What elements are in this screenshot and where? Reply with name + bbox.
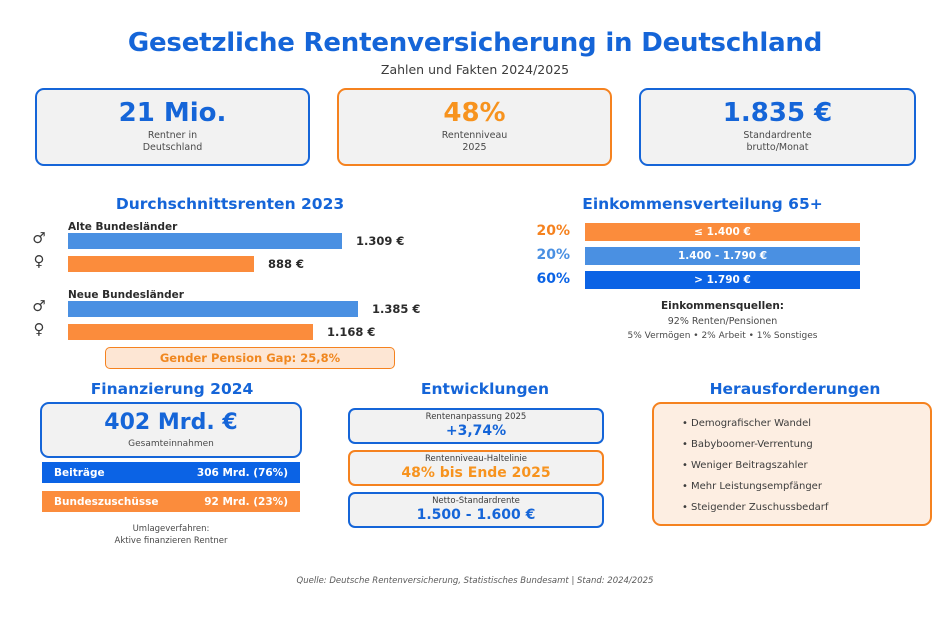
bullet-icon: •	[682, 502, 691, 513]
financing-total-value: 402 Mrd. €	[104, 411, 237, 435]
kpi-value: 48%	[443, 100, 505, 127]
challenge-text: Babyboomer-Verrentung	[691, 439, 813, 450]
financing-bar-name: Bundeszuschüsse	[54, 496, 158, 508]
bar-value-neue-frauen: 1.168 €	[327, 325, 375, 339]
development-label: Rentenniveau-Haltelinie	[425, 454, 527, 464]
kpi-card-rentner: 21 Mio. Rentner in Deutschland	[35, 88, 310, 166]
list-item: •Mehr Leistungsempfänger	[682, 481, 930, 492]
distribution-bar-1: 1.400 - 1.790 €	[585, 247, 860, 265]
bullet-icon: •	[682, 481, 691, 492]
challenge-text: Steigender Zuschussbedarf	[691, 502, 828, 513]
distribution-pct-1: 20%	[508, 247, 570, 263]
bar-value-neue-maenner: 1.385 €	[372, 302, 420, 316]
bar-value-alte-frauen: 888 €	[268, 257, 304, 271]
development-label: Rentenanpassung 2025	[426, 412, 527, 422]
page-title: Gesetzliche Rentenversicherung in Deutsc…	[0, 28, 950, 58]
male-icon: ♂	[30, 297, 48, 315]
bar-group-label-neue: Neue Bundesländer	[68, 289, 184, 301]
male-icon: ♂	[30, 229, 48, 247]
kpi-card-standardrente: 1.835 € Standardrente brutto/Monat	[639, 88, 916, 166]
development-value: 1.500 - 1.600 €	[417, 507, 536, 525]
bar-alte-maenner	[68, 233, 342, 249]
section-heading-herausforderungen: Herausforderungen	[645, 380, 945, 398]
section-heading-einkommensverteilung: Einkommensverteilung 65+	[490, 195, 915, 213]
source-footer: Quelle: Deutsche Rentenversicherung, Sta…	[0, 576, 950, 586]
list-item: •Demografischer Wandel	[682, 418, 930, 429]
income-sources-primary: 92% Renten/Pensionen	[585, 316, 860, 327]
development-card-haltelinie: Rentenniveau-Haltelinie 48% bis Ende 202…	[348, 450, 604, 486]
bullet-icon: •	[682, 439, 691, 450]
kpi-card-rentenniveau: 48% Rentenniveau 2025	[337, 88, 612, 166]
development-label: Netto-Standardrente	[432, 496, 520, 506]
development-card-nettostandardrente: Netto-Standardrente 1.500 - 1.600 €	[348, 492, 604, 528]
challenge-text: Demografischer Wandel	[691, 418, 811, 429]
financing-bar-amount: 92 Mrd. (23%)	[204, 496, 288, 508]
financing-bar-beitraege: Beiträge 306 Mrd. (76%)	[42, 462, 300, 483]
financing-bar-bundeszuschuesse: Bundeszuschüsse 92 Mrd. (23%)	[42, 491, 300, 512]
financing-bar-amount: 306 Mrd. (76%)	[197, 467, 288, 479]
gender-pension-gap-badge: Gender Pension Gap: 25,8%	[105, 347, 395, 369]
income-sources-secondary: 5% Vermögen • 2% Arbeit • 1% Sonstiges	[545, 331, 900, 341]
female-icon: ♀	[30, 252, 48, 270]
kpi-value: 1.835 €	[723, 100, 832, 127]
distribution-pct-2: 60%	[508, 271, 570, 287]
page-subtitle: Zahlen und Fakten 2024/2025	[0, 62, 950, 77]
infographic-canvas: Gesetzliche Rentenversicherung in Deutsc…	[0, 0, 950, 628]
bar-neue-maenner	[68, 301, 358, 317]
list-item: •Weniger Beitragszahler	[682, 460, 930, 471]
bar-value-alte-maenner: 1.309 €	[356, 234, 404, 248]
financing-total-card: 402 Mrd. € Gesamteinnahmen	[40, 402, 302, 458]
female-icon: ♀	[30, 320, 48, 338]
challenge-text: Weniger Beitragszahler	[691, 460, 808, 471]
distribution-bar-2: > 1.790 €	[585, 271, 860, 289]
list-item: •Steigender Zuschussbedarf	[682, 502, 930, 513]
development-card-rentenanpassung: Rentenanpassung 2025 +3,74%	[348, 408, 604, 444]
financing-total-label: Gesamteinnahmen	[128, 439, 214, 449]
kpi-value: 21 Mio.	[119, 100, 227, 127]
kpi-label: Standardrente brutto/Monat	[743, 130, 811, 155]
development-value: 48% bis Ende 2025	[401, 465, 550, 483]
distribution-bar-0: ≤ 1.400 €	[585, 223, 860, 241]
challenges-box: •Demografischer Wandel •Babyboomer-Verre…	[652, 402, 932, 526]
list-item: •Babyboomer-Verrentung	[682, 439, 930, 450]
kpi-label: Rentner in Deutschland	[143, 130, 203, 155]
section-heading-entwicklungen: Entwicklungen	[340, 380, 630, 398]
kpi-label: Rentenniveau 2025	[442, 130, 508, 155]
challenge-text: Mehr Leistungsempfänger	[691, 481, 822, 492]
bar-group-label-alte: Alte Bundesländer	[68, 221, 177, 233]
distribution-pct-0: 20%	[508, 223, 570, 239]
income-sources-title: Einkommensquellen:	[585, 300, 860, 312]
bar-alte-frauen	[68, 256, 254, 272]
bullet-icon: •	[682, 418, 691, 429]
development-value: +3,74%	[446, 423, 506, 441]
section-heading-finanzierung: Finanzierung 2024	[22, 380, 322, 398]
bullet-icon: •	[682, 460, 691, 471]
financing-note: Umlageverfahren: Aktive finanzieren Rent…	[42, 523, 300, 548]
section-heading-durchschnittsrenten: Durchschnittsrenten 2023	[35, 195, 425, 213]
financing-bar-name: Beiträge	[54, 467, 105, 479]
bar-neue-frauen	[68, 324, 313, 340]
